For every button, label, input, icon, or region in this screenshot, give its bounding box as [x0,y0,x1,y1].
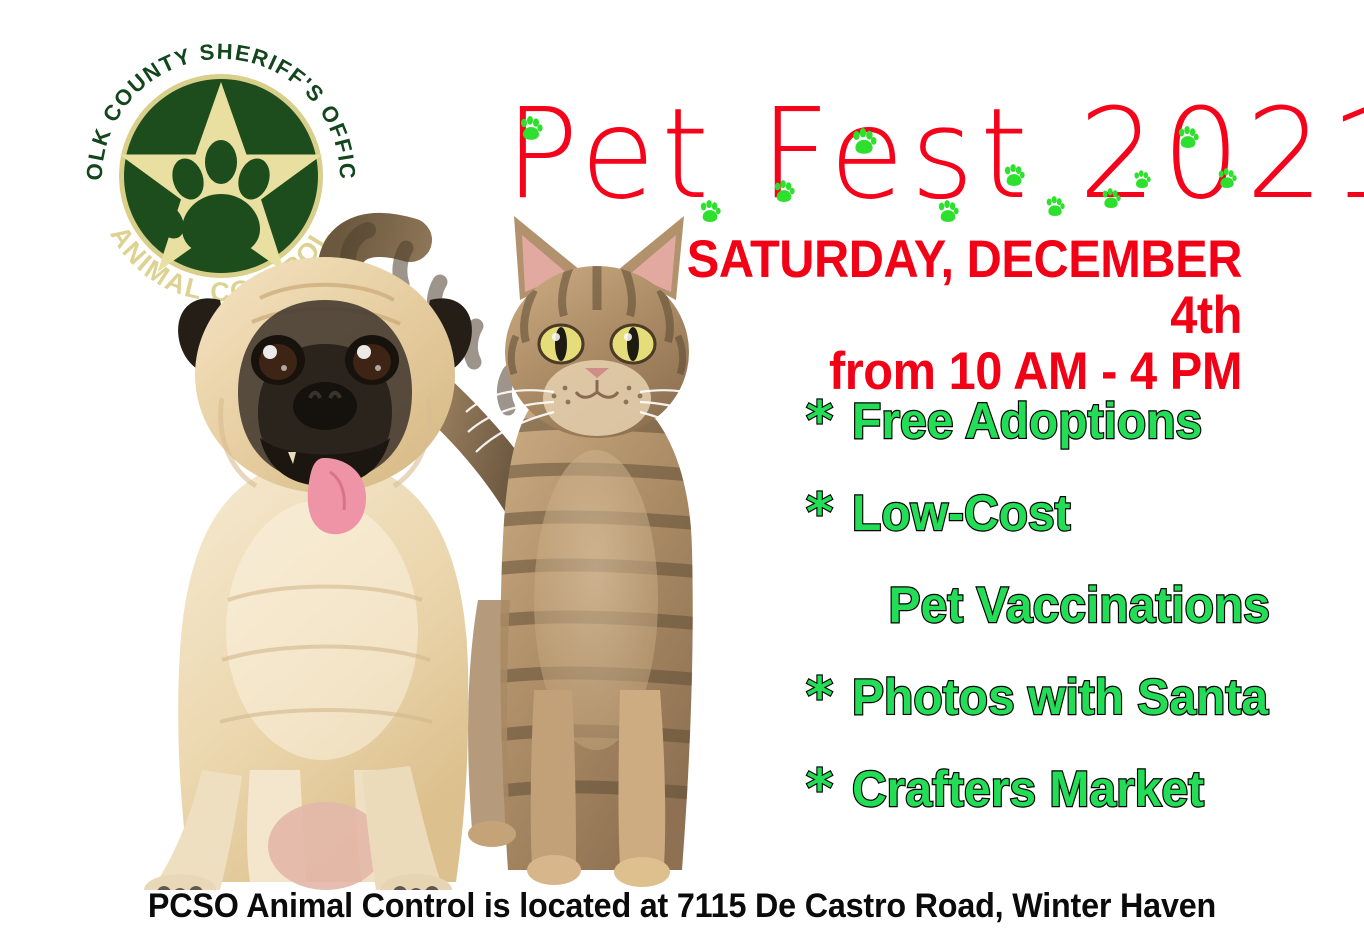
event-title-text: Pet Fest 2021 [505,88,1265,221]
pug-body [144,460,468,890]
list-item-label: Photos with Santa [852,670,1268,724]
event-title: Pet Fest 2021 [505,88,1265,233]
list-item: * Free Adoptions [806,394,1276,486]
list-item: * Pet Vaccinations [806,578,1276,670]
list-item-label: Low-Cost [852,486,1071,540]
list-item: * Low-Cost [806,486,1276,578]
polk-county-sheriff-animal-control-badge-icon: POLK COUNTY SHERIFF'S OFFICE ANIMAL CONT… [76,26,366,316]
feature-list: * Free Adoptions * Low-Cost * Pet Vaccin… [806,394,1276,854]
event-date-line: SATURDAY, DECEMBER 4th [653,232,1242,344]
list-item-label: Pet Vaccinations [852,578,1270,632]
event-date-block: SATURDAY, DECEMBER 4th from 10 AM - 4 PM [602,232,1242,400]
asterisk-bullet-icon: * [806,487,852,539]
event-time-line: from 10 AM - 4 PM [653,344,1242,400]
list-item: * Crafters Market [806,762,1276,854]
asterisk-bullet-icon: * [806,763,852,815]
asterisk-bullet-icon: * [806,671,852,723]
pet-fest-poster: POLK COUNTY SHERIFF'S OFFICE ANIMAL CONT… [0,0,1364,950]
list-item: * Photos with Santa [806,670,1276,762]
location-footer: PCSO Animal Control is located at 7115 D… [34,886,1330,926]
cat-body [468,380,702,887]
cat-tail [339,230,570,600]
list-item-label: Free Adoptions [852,394,1202,448]
list-item-label: Crafters Market [852,762,1204,816]
asterisk-bullet-icon: * [806,395,852,447]
